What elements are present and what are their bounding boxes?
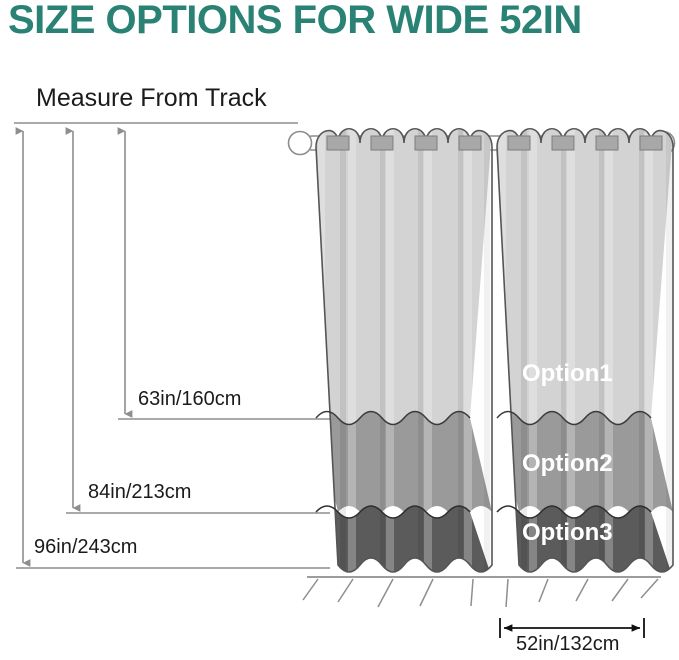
diagram-canvas (0, 0, 679, 660)
size-options-diagram: SIZE OPTIONS FOR WIDE 52IN Measure From … (0, 0, 679, 660)
dimension-label-84: 84in/213cm (88, 481, 191, 504)
dimension-label-63: 63in/160cm (138, 388, 241, 411)
rod-finial-left (289, 132, 312, 155)
width-dimension-label: 52in/132cm (516, 633, 619, 656)
floor-hatching (303, 577, 661, 607)
dimension-label-96: 96in/243cm (34, 536, 137, 559)
option-label-1: Option1 (522, 360, 613, 388)
curtain-panel-left (310, 120, 500, 590)
option-label-2: Option2 (522, 450, 613, 478)
option-label-3: Option3 (522, 519, 613, 547)
